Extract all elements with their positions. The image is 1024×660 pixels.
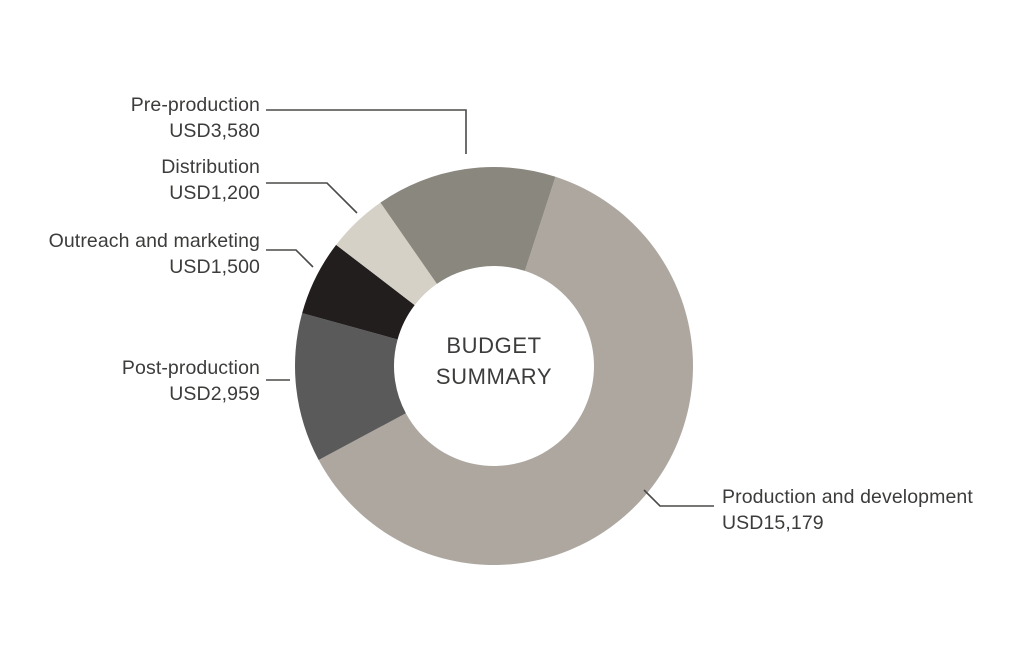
label-distribution[interactable]: Distribution USD1,200	[10, 154, 260, 206]
label-pre-production-value: USD3,580	[10, 118, 260, 144]
label-pre-production[interactable]: Pre-production USD3,580	[10, 92, 260, 144]
label-outreach-and-marketing-name: Outreach and marketing	[10, 228, 260, 254]
donut-center-label: BUDGET SUMMARY	[394, 330, 594, 392]
label-post-production-value: USD2,959	[10, 381, 260, 407]
label-distribution-value: USD1,200	[10, 180, 260, 206]
center-label-line1: BUDGET	[394, 330, 594, 361]
label-post-production[interactable]: Post-production USD2,959	[10, 355, 260, 407]
label-outreach-and-marketing[interactable]: Outreach and marketing USD1,500	[10, 228, 260, 280]
budget-summary-chart: BUDGET SUMMARY Pre-production USD3,580 D…	[0, 0, 1024, 660]
leader-line-distribution	[266, 183, 357, 213]
label-pre-production-name: Pre-production	[10, 92, 260, 118]
leader-line-outreach-marketing	[266, 250, 313, 267]
label-post-production-name: Post-production	[10, 355, 260, 381]
label-production-and-development-value: USD15,179	[722, 510, 1012, 536]
leader-line-pre-production	[266, 110, 466, 154]
center-label-line2: SUMMARY	[394, 361, 594, 392]
label-distribution-name: Distribution	[10, 154, 260, 180]
label-production-and-development[interactable]: Production and development USD15,179	[722, 484, 1012, 536]
label-production-and-development-name: Production and development	[722, 484, 1012, 510]
label-outreach-and-marketing-value: USD1,500	[10, 254, 260, 280]
leader-line-production-development	[644, 490, 714, 506]
